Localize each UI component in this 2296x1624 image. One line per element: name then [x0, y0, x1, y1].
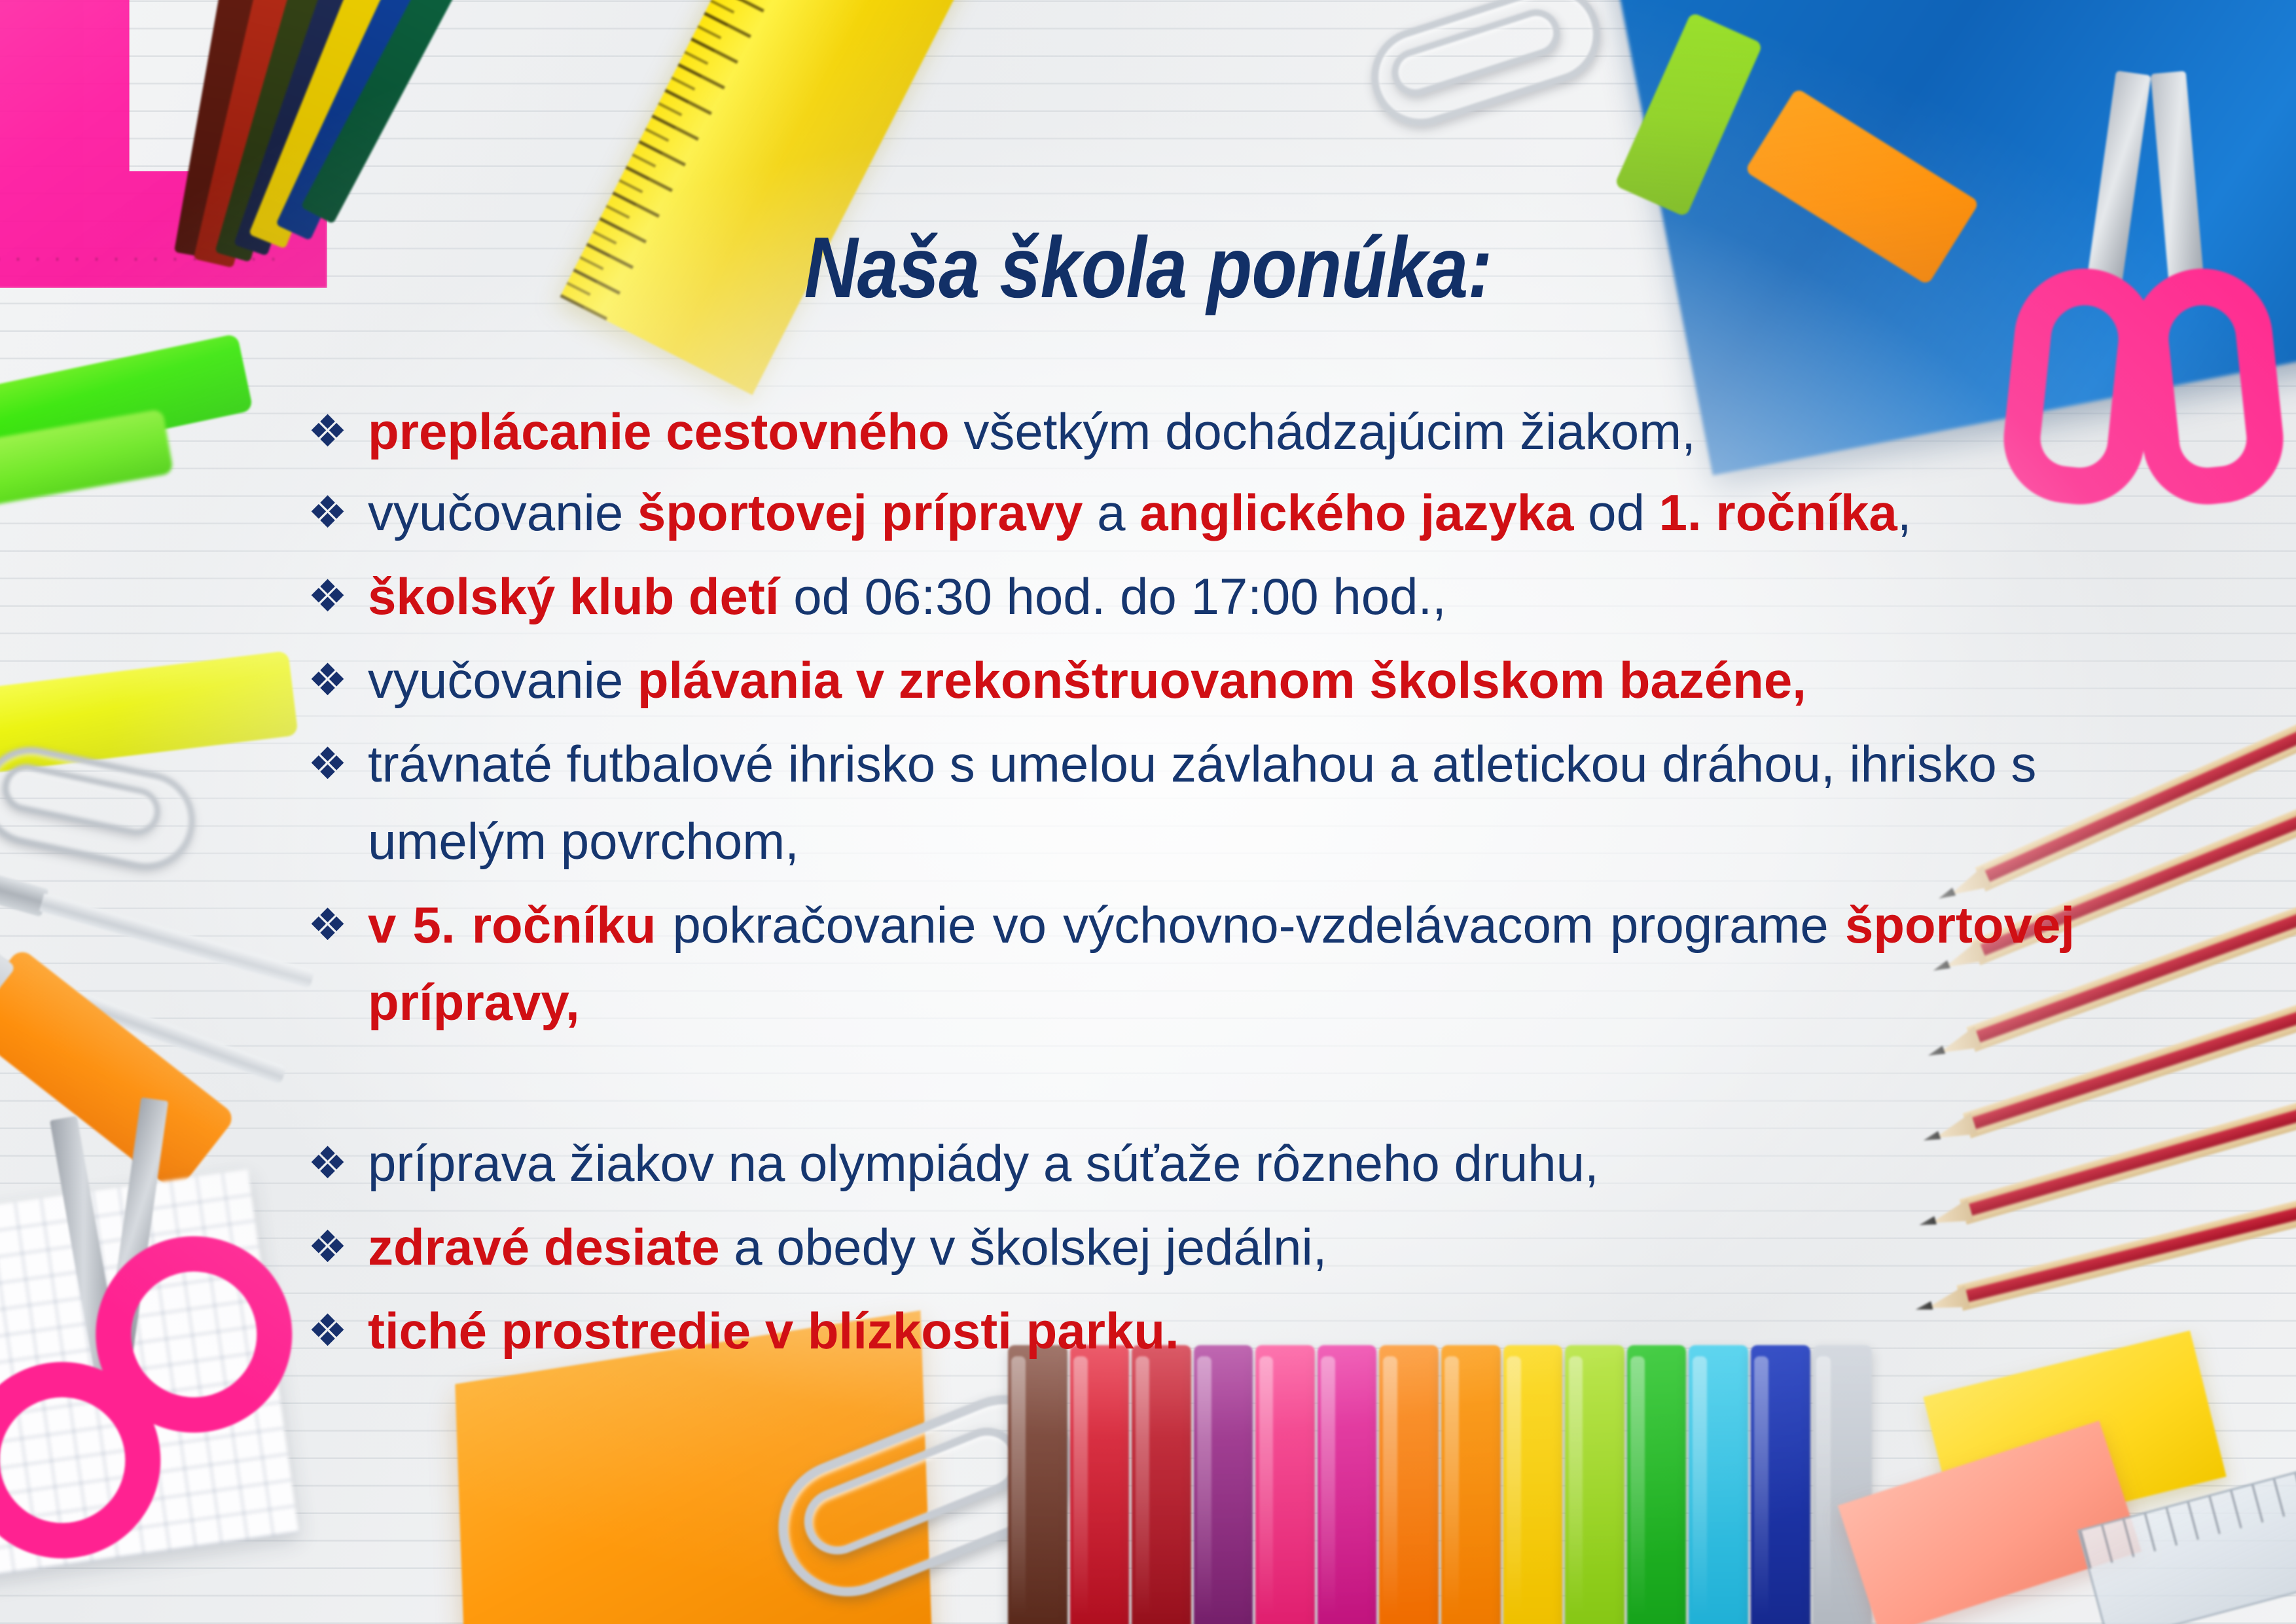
- list-item-text: trávnaté futbalové ihrisko s umelou závl…: [368, 725, 2075, 880]
- list-item: ❖ trávnaté futbalové ihrisko s umelou zá…: [308, 725, 2075, 880]
- list-item-text: tiché prostredie v blízkosti parku.: [368, 1292, 2075, 1369]
- page-title: Naša škola ponúka:: [161, 218, 2136, 317]
- emphasized-run: v 5. ročníku: [368, 896, 656, 954]
- offer-bullet-list: ❖ preplácanie cestovného všetkým dochádz…: [308, 393, 2075, 1376]
- diamond-cluster-bullet-icon: ❖: [308, 1208, 368, 1286]
- plain-run: príprava žiakov na olympiády a súťaže rô…: [368, 1134, 1599, 1192]
- plain-run: trávnaté futbalové ihrisko s umelou závl…: [368, 735, 2036, 870]
- emphasized-run: zdravé desiate: [368, 1218, 720, 1276]
- list-item-text: príprava žiakov na olympiády a súťaže rô…: [368, 1125, 2075, 1202]
- list-item: ❖ vyučovanie športovej prípravy a anglic…: [308, 474, 2075, 551]
- plain-run: všetkým dochádzajúcim žiakom,: [963, 403, 1695, 460]
- list-item-text: školský klub detí od 06:30 hod. do 17:00…: [368, 558, 2075, 635]
- emphasized-run: tiché prostredie v blízkosti parku.: [368, 1302, 1179, 1360]
- list-item: ❖ zdravé desiate a obedy v školskej jedá…: [308, 1208, 2075, 1286]
- emphasized-run: 1. ročníka: [1659, 484, 1897, 541]
- plain-run: pokračovanie vo výchovno-vzdelávacom pro…: [656, 896, 1845, 954]
- list-item-text: v 5. ročníku pokračovanie vo výchovno-vz…: [368, 886, 2075, 1118]
- list-item: ❖ školský klub detí od 06:30 hod. do 17:…: [308, 558, 2075, 635]
- plain-run: od 06:30 hod. do 17:00 hod.,: [780, 568, 1446, 625]
- diamond-cluster-bullet-icon: ❖: [308, 1292, 368, 1369]
- diamond-cluster-bullet-icon: ❖: [308, 1125, 368, 1202]
- plain-run: a: [1083, 484, 1139, 541]
- diamond-cluster-bullet-icon: ❖: [308, 886, 368, 964]
- list-item: ❖ príprava žiakov na olympiády a súťaže …: [308, 1125, 2075, 1202]
- emphasized-run: preplácanie cestovného: [368, 403, 963, 460]
- plain-run: vyučovanie: [368, 651, 637, 709]
- emphasized-run: anglického jazyka: [1139, 484, 1573, 541]
- diamond-cluster-bullet-icon: ❖: [308, 393, 368, 470]
- emphasized-run: športovej prípravy: [637, 484, 1083, 541]
- diamond-cluster-bullet-icon: ❖: [308, 558, 368, 635]
- plain-run: vyučovanie: [368, 484, 637, 541]
- list-item-text: zdravé desiate a obedy v školskej jedáln…: [368, 1208, 2075, 1286]
- plain-run: od: [1574, 484, 1659, 541]
- list-item-text: preplácanie cestovného všetkým dochádzaj…: [368, 393, 2075, 470]
- diamond-cluster-bullet-icon: ❖: [308, 474, 368, 551]
- list-item: ❖ preplácanie cestovného všetkým dochádz…: [308, 393, 2075, 470]
- emphasized-run: plávania v zrekonštruovanom školskom baz…: [637, 651, 1806, 709]
- slide: Naša škola ponúka: ❖ preplácanie cestovn…: [0, 0, 2296, 1624]
- list-item-text: vyučovanie plávania v zrekonštruovanom š…: [368, 641, 2075, 719]
- plain-run: ,: [1897, 484, 1912, 541]
- slide-content: Naša škola ponúka: ❖ preplácanie cestovn…: [0, 0, 2296, 1624]
- list-item: ❖ vyučovanie plávania v zrekonštruovanom…: [308, 641, 2075, 719]
- list-item: ❖ v 5. ročníku pokračovanie vo výchovno-…: [308, 886, 2075, 1118]
- diamond-cluster-bullet-icon: ❖: [308, 641, 368, 719]
- list-item: ❖ tiché prostredie v blízkosti parku.: [308, 1292, 2075, 1369]
- emphasized-run: školský klub detí: [368, 568, 780, 625]
- list-item-text: vyučovanie športovej prípravy a anglické…: [368, 474, 2075, 551]
- plain-run: a obedy v školskej jedálni,: [720, 1218, 1327, 1276]
- diamond-cluster-bullet-icon: ❖: [308, 725, 368, 803]
